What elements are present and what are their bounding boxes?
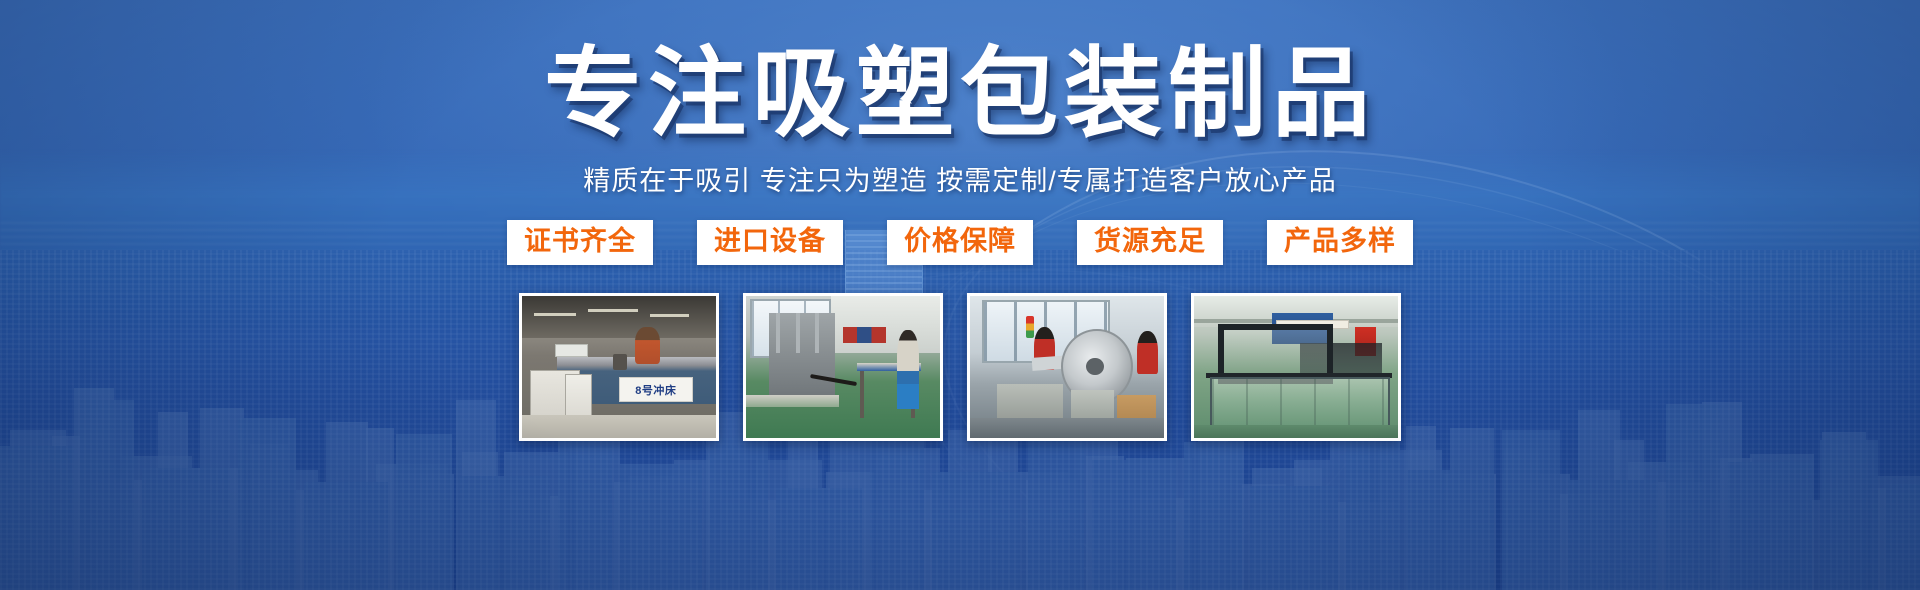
factory-photo-injection-molding[interactable] — [743, 293, 943, 441]
worker-figure — [635, 327, 660, 364]
press-sign-6 — [555, 344, 588, 357]
badge-imported-equipment[interactable]: 进口设备 — [697, 220, 843, 265]
worker-figure — [897, 330, 918, 387]
feature-badge-list: 证书齐全 进口设备 价格保障 货源充足 产品多样 — [507, 220, 1413, 265]
badge-certificates[interactable]: 证书齐全 — [507, 220, 653, 265]
factory-photo-punch-press[interactable]: 8号冲床 — [519, 293, 719, 441]
banner-subtitle: 精质在于吸引 专注只为塑造 按需定制/专属打造客户放心产品 — [583, 159, 1337, 198]
factory-photo-vacuum-forming[interactable] — [1191, 293, 1401, 441]
worker-figure — [1137, 331, 1158, 374]
badge-price-guarantee[interactable]: 价格保障 — [887, 220, 1033, 265]
banner-content: 专注吸塑包装制品 精质在于吸引 专注只为塑造 按需定制/专属打造客户放心产品 证… — [0, 0, 1920, 590]
badge-diverse-products[interactable]: 产品多样 — [1267, 220, 1413, 265]
factory-photo-gallery: 8号冲床 — [519, 293, 1401, 441]
page-title: 专注吸塑包装制品 — [544, 42, 1376, 145]
cooling-tank — [1210, 377, 1390, 428]
signal-tower-lamp — [1026, 316, 1034, 339]
promotional-banner: 专注吸塑包装制品 精质在于吸引 专注只为塑造 按需定制/专属打造客户放心产品 证… — [0, 0, 1920, 590]
press-sign-8: 8号冲床 — [619, 377, 693, 403]
badge-ample-supply[interactable]: 货源充足 — [1077, 220, 1223, 265]
factory-photo-reel-machine[interactable] — [967, 293, 1167, 441]
